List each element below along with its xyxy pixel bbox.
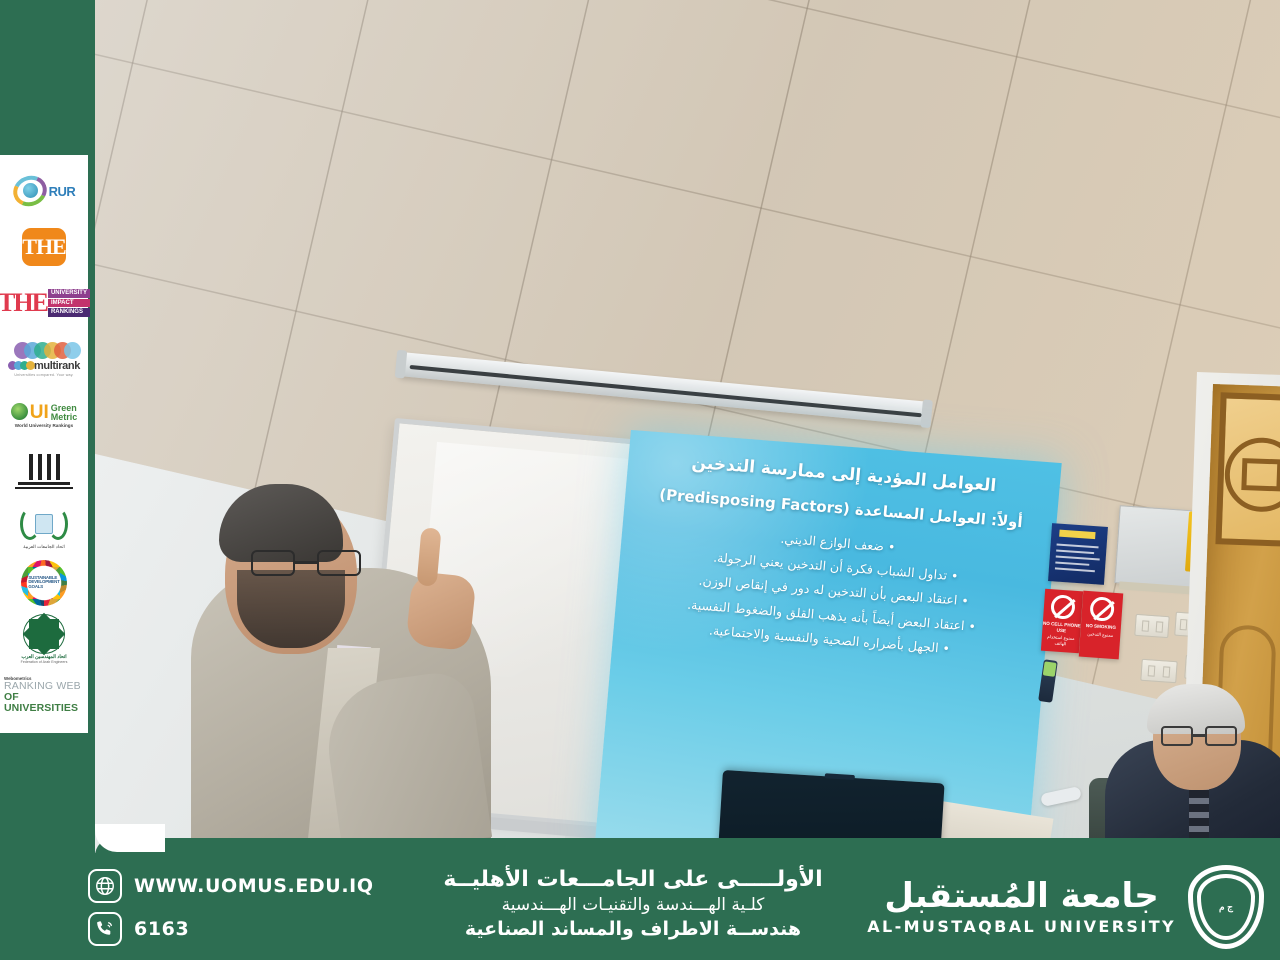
the-impact-label: THE [0, 288, 47, 318]
light-switch-plate [1134, 614, 1169, 638]
the-badge-icon: THE [22, 228, 66, 266]
footer-arabic-tagline: الأولـــــى على الجامـــعات الأهليــة كل… [408, 865, 858, 943]
page-frame: RUR THE THE UNIVERSITY IMPACT RANKINGS [0, 0, 1280, 960]
brand-name-english: AL-MUSTAQBAL UNIVERSITY [867, 917, 1176, 936]
footer-arabic-line-1: الأولـــــى على الجامـــعات الأهليــة [408, 865, 858, 894]
university-brand-lockup: جامعة المُستقبل AL-MUSTAQBAL UNIVERSITY … [867, 865, 1264, 949]
sdg-logo: SUSTAINABLE DEVELOPMENT GOALS [4, 555, 84, 611]
accreditation-logo-strip: RUR THE THE UNIVERSITY IMPACT RANKINGS [0, 155, 88, 733]
seated-person-glasses-icon [1161, 726, 1237, 746]
no-smoking-text-ar: ممنوع التدخين [1087, 631, 1113, 639]
footer-arabic-line-2: كلـية الهـــندسة والتقنيـات الهـــندسية [408, 894, 858, 917]
globe-www-icon [88, 869, 122, 903]
the-label: THE [22, 234, 65, 260]
the-logo: THE [4, 219, 84, 275]
website-label: WWW.UOMUS.EDU.IQ [134, 875, 374, 897]
footer-arabic-line-3: هندســة الاطراف والمساند الصناعية [408, 917, 858, 942]
lecture-hall-photograph: العوامل المؤدية إلى ممارسة التدخين أولاً… [95, 0, 1280, 853]
no-cell-phone-text-ar: ممنوع استخدام الهاتف [1041, 634, 1080, 649]
no-smoking-icon [1089, 596, 1115, 622]
blue-wall-poster [1048, 523, 1108, 585]
accreditation-rail: RUR THE THE UNIVERSITY IMPACT RANKINGS [0, 0, 95, 960]
power-socket-plate [1140, 659, 1177, 683]
rur-logo: RUR [4, 163, 84, 219]
no-smoking-sign: NO SMOKING ممنوع التدخين [1079, 591, 1124, 660]
pillars-icon [15, 454, 73, 489]
phone-row[interactable]: 6163 [88, 912, 374, 946]
the-impact-rankings-logo: THE UNIVERSITY IMPACT RANKINGS [4, 275, 84, 331]
sdg-wheel-icon: SUSTAINABLE DEVELOPMENT GOALS [21, 560, 67, 606]
presenter-person [191, 478, 521, 853]
the-impact-line-2: IMPACT [48, 299, 90, 308]
greenmetric-caption: World University Rankings [15, 423, 73, 428]
presenter-glasses-icon [251, 550, 361, 576]
no-smoking-text-en: NO SMOKING [1086, 623, 1116, 631]
multirank-logo: multirank Universities compared. Your wa… [4, 331, 84, 387]
multirank-label: multirank [34, 360, 80, 372]
multirank-caption: Universities compared. Your way. [14, 373, 73, 377]
no-cell-phone-text-en: NO CELL PHONE USE [1042, 621, 1081, 635]
the-impact-line-1: UNIVERSITY [48, 289, 90, 298]
arab-universities-union-caption: اتحاد الجامعات العربية [23, 544, 65, 550]
phone-label: 6163 [134, 918, 189, 940]
no-cell-phone-sign: NO CELL PHONE USE ممنوع استخدام الهاتف [1041, 589, 1083, 653]
rur-label: RUR [49, 184, 76, 199]
multirank-dots-icon [8, 361, 32, 370]
the-impact-line-3: RANKINGS [48, 308, 90, 317]
ui-greenmetric-label: UI [30, 405, 49, 421]
sdg-label: SUSTAINABLE DEVELOPMENT GOALS [28, 576, 59, 589]
rur-arc-icon [13, 176, 47, 206]
seated-person [1105, 688, 1280, 853]
website-row[interactable]: WWW.UOMUS.EDU.IQ [88, 869, 374, 903]
webometrics-line-2: OF UNIVERSITIES [4, 692, 84, 714]
phone-icon [88, 912, 122, 946]
ui-greenmetric-logo: UI Green Metric World University Ranking… [4, 387, 84, 443]
arab-universities-union-logo: اتحاد الجامعات العربية [4, 499, 84, 555]
greenmetric-word-2: Metric [51, 413, 78, 422]
no-cell-phone-icon [1050, 594, 1076, 620]
fae-caption-en: Federation of Arab Engineers [21, 660, 68, 664]
wreath-icon [18, 505, 70, 543]
classical-pillars-logo [4, 443, 84, 499]
webometrics-logo: Webometrics RANKING WEB OF UNIVERSITIES [4, 667, 84, 723]
eight-point-star-icon [23, 614, 65, 654]
green-globe-icon [11, 403, 28, 420]
crest-label: ج م [1219, 902, 1233, 913]
footer-contact-block: WWW.UOMUS.EDU.IQ 6163 [88, 869, 374, 946]
footer-bar: WWW.UOMUS.EDU.IQ 6163 الأولـــــى على ال… [0, 853, 1280, 960]
brand-name-arabic: جامعة المُستقبل [867, 878, 1176, 915]
multirank-circles-icon [14, 342, 74, 359]
door-transom-window [1215, 392, 1280, 549]
university-crest-icon: ج م [1188, 865, 1264, 949]
federation-arab-engineers-logo: اتحاد المهندسين العرب Federation of Arab… [4, 611, 84, 667]
